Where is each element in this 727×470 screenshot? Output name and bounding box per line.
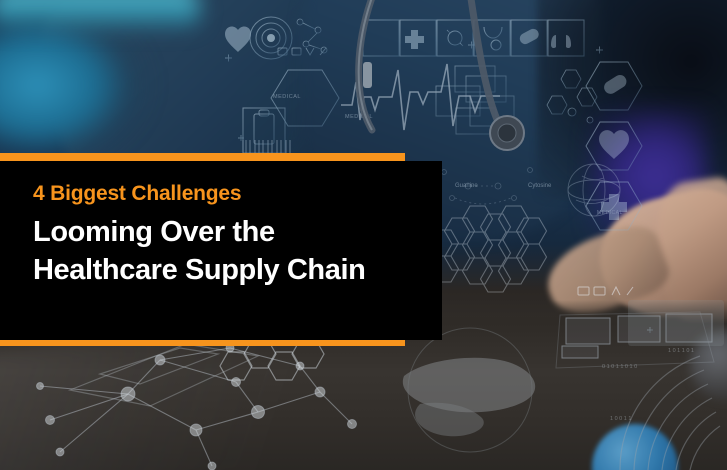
accent-bar-bottom [0, 340, 405, 346]
svg-text:1 0 0 1 1: 1 0 0 1 1 [610, 416, 631, 422]
headline-line-1: Looming Over the [33, 214, 423, 252]
svg-text:1 0 1 1 0 1: 1 0 1 1 0 1 [668, 348, 694, 354]
hero-banner: MEDICAL MEDICAL MEDICAL Guanine Cytosine [0, 0, 727, 470]
eyebrow-text: 4 Biggest Challenges [33, 183, 423, 205]
concentric-rings [620, 356, 720, 470]
accent-bar-top [0, 153, 405, 161]
keyboard-mesh [628, 300, 724, 346]
desk-hexagon-chain [220, 340, 324, 380]
desk-tablet-outline [70, 344, 258, 406]
headline-line-2: Healthcare Supply Chain [33, 252, 423, 290]
world-map-graphic [403, 328, 535, 452]
black-panel: 4 Biggest Challenges Looming Over the He… [0, 161, 442, 340]
desk-data-readouts: 0 1 0 1 1 0 1 0 1 0 1 1 0 1 1 0 0 1 1 [602, 348, 694, 422]
title-panel: 4 Biggest Challenges Looming Over the He… [0, 153, 442, 338]
title-text-wrapper: 4 Biggest Challenges Looming Over the He… [33, 183, 423, 289]
svg-text:0 1 0 1 1 0 1 0: 0 1 0 1 1 0 1 0 [602, 364, 637, 370]
